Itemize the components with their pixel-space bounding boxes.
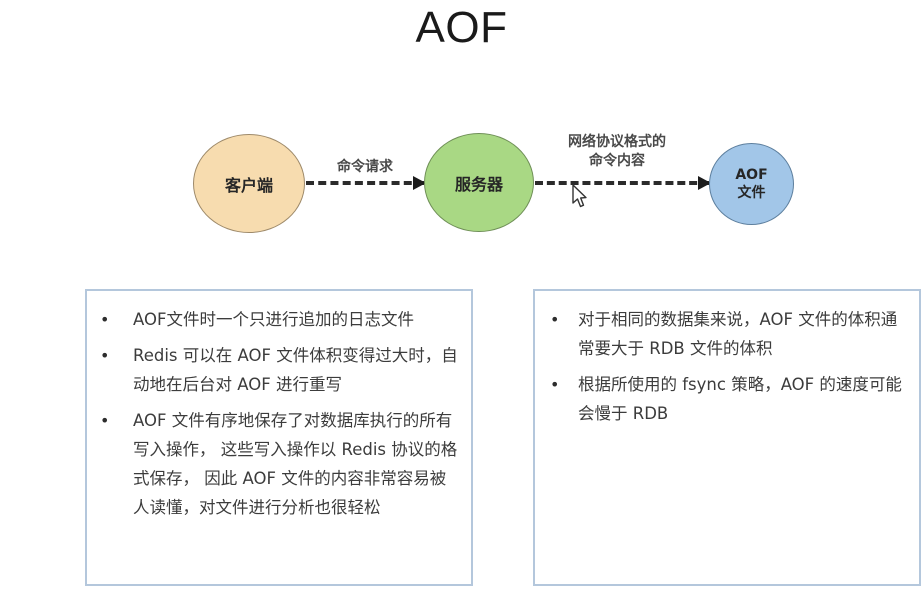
list-item: • AOF文件时一个只进行追加的日志文件 [87,305,461,334]
list-item-text: 对于相同的数据集来说，AOF 文件的体积通常要大于 RDB 文件的体积 [578,310,897,358]
diagram-node-server: 服务器 [424,133,534,232]
disadvantages-list: • 对于相同的数据集来说，AOF 文件的体积通常要大于 RDB 文件的体积 • … [535,305,909,428]
bullet-icon: • [100,341,109,370]
list-item-text: AOF 文件有序地保存了对数据库执行的所有写入操作， 这些写入操作以 Redis… [133,411,457,517]
diagram-node-client: 客户端 [193,134,305,233]
diagram-edge-label-protocol-content-line1: 网络协议格式的 [527,133,707,152]
list-item: • 根据所使用的 fsync 策略，AOF 的速度可能会慢于 RDB [535,370,909,428]
dashed-line [306,181,424,185]
diagram-node-aof-file-label-line1: AOF [735,166,767,184]
diagram-node-aof-file: AOF 文件 [709,143,794,225]
list-item: • AOF 文件有序地保存了对数据库执行的所有写入操作， 这些写入操作以 Red… [87,406,461,522]
mouse-pointer-icon [572,184,590,210]
diagram-node-server-label: 服务器 [455,171,503,195]
flow-diagram: 客户端 命令请求 服务器 网络协议格式的 命令内容 AOF 文件 [0,120,923,250]
bullet-icon: • [550,370,559,399]
diagram-edge-client-to-server [306,181,424,185]
advantages-list: • AOF文件时一个只进行追加的日志文件 • Redis 可以在 AOF 文件体… [87,305,461,522]
diagram-edge-label-protocol-content-line2: 命令内容 [527,152,707,171]
note-box-disadvantages: • 对于相同的数据集来说，AOF 文件的体积通常要大于 RDB 文件的体积 • … [533,289,921,586]
list-item: • Redis 可以在 AOF 文件体积变得过大时，自动地在后台对 AOF 进行… [87,341,461,399]
list-item-text: Redis 可以在 AOF 文件体积变得过大时，自动地在后台对 AOF 进行重写 [133,346,458,394]
note-box-advantages: • AOF文件时一个只进行追加的日志文件 • Redis 可以在 AOF 文件体… [85,289,473,586]
dashed-line [535,181,709,185]
page-title: AOF [0,0,923,56]
list-item: • 对于相同的数据集来说，AOF 文件的体积通常要大于 RDB 文件的体积 [535,305,909,363]
diagram-node-aof-file-label-line2: 文件 [738,184,766,202]
diagram-node-client-label: 客户端 [225,172,273,196]
list-item-text: AOF文件时一个只进行追加的日志文件 [133,310,414,329]
diagram-edge-server-to-aof-file [535,181,709,185]
list-item-text: 根据所使用的 fsync 策略，AOF 的速度可能会慢于 RDB [578,375,902,423]
bullet-icon: • [550,305,559,334]
bullet-icon: • [100,406,109,435]
diagram-edge-label-protocol-content: 网络协议格式的 命令内容 [527,133,707,171]
diagram-edge-label-command-request: 命令请求 [306,158,424,177]
bullet-icon: • [100,305,109,334]
